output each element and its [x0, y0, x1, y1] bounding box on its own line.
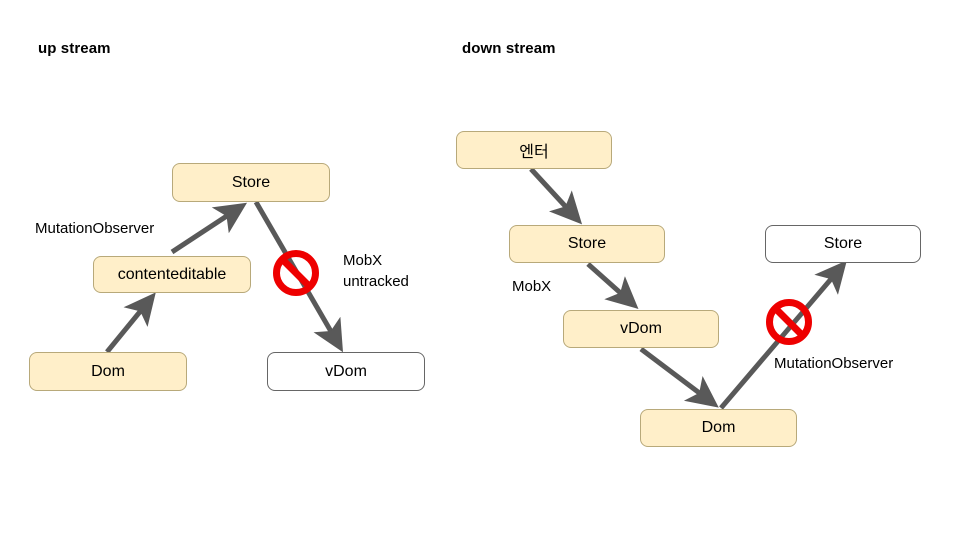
- diagram-canvas: up stream down stream Store contentedita…: [0, 0, 960, 540]
- edge-enter-to-store: [531, 169, 578, 220]
- label-up-mutationobserver: MutationObserver: [35, 218, 154, 239]
- edge-vdom-to-dom: [641, 349, 714, 404]
- label-up-untracked: untracked: [343, 271, 409, 292]
- prohibition-icon: [272, 249, 320, 302]
- node-down-enter[interactable]: 엔터: [456, 131, 612, 169]
- label-up-mobx: MobX: [343, 250, 382, 271]
- node-up-dom[interactable]: Dom: [29, 352, 187, 391]
- edge-contenteditable-to-store: [172, 206, 242, 252]
- node-down-store2[interactable]: Store: [765, 225, 921, 263]
- node-down-dom[interactable]: Dom: [640, 409, 797, 447]
- node-up-contenteditable[interactable]: contenteditable: [93, 256, 251, 293]
- label-down-mutationobserver: MutationObserver: [774, 353, 893, 374]
- node-down-store[interactable]: Store: [509, 225, 665, 263]
- section-title-up-stream: up stream: [38, 40, 111, 57]
- section-title-down-stream: down stream: [462, 40, 556, 57]
- node-down-vdom[interactable]: vDom: [563, 310, 719, 348]
- edge-dom-to-contenteditable: [107, 297, 152, 352]
- edge-store-to-vdom-down: [588, 264, 634, 305]
- label-down-mobx: MobX: [512, 276, 551, 297]
- node-up-vdom[interactable]: vDom: [267, 352, 425, 391]
- prohibition-icon: [765, 298, 813, 351]
- node-up-store[interactable]: Store: [172, 163, 330, 202]
